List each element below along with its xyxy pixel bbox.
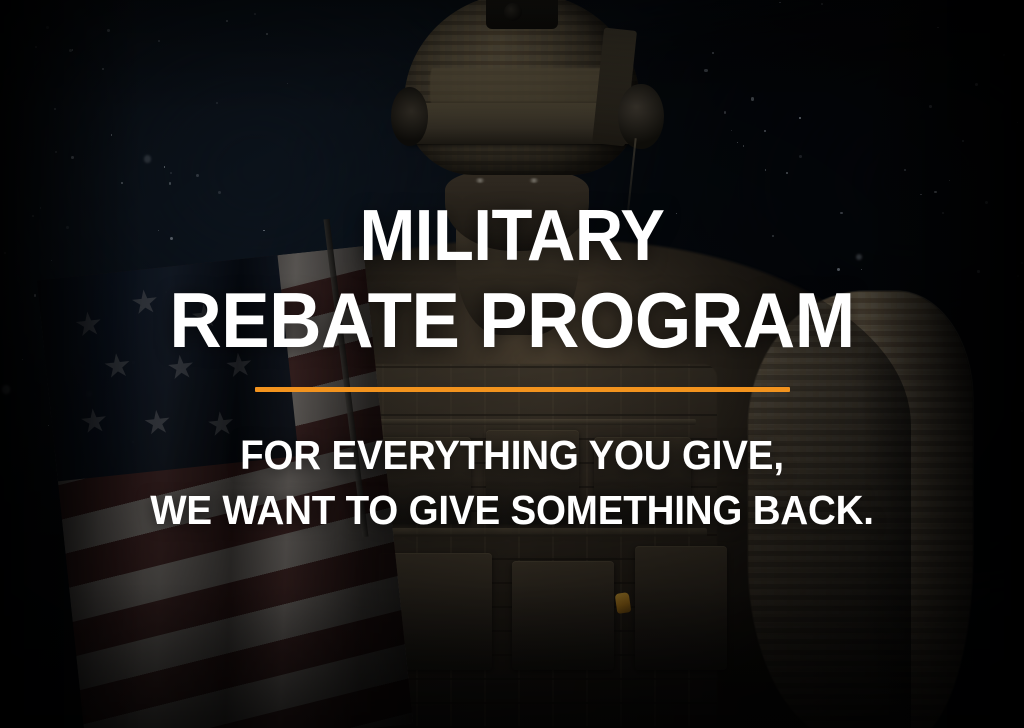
military-rebate-banner: MILITARY REBATE PROGRAM FOR EVERYTHING Y… (0, 0, 1024, 728)
headset-earcup (618, 84, 663, 150)
eye-left (474, 178, 486, 183)
helmet-velcro-panel (430, 68, 614, 106)
night-vision-mount (486, 0, 558, 29)
headset-wire (625, 138, 636, 228)
night-vision-knob (504, 3, 522, 21)
eye-right (528, 178, 540, 183)
helmet-ear-protection (391, 87, 428, 145)
